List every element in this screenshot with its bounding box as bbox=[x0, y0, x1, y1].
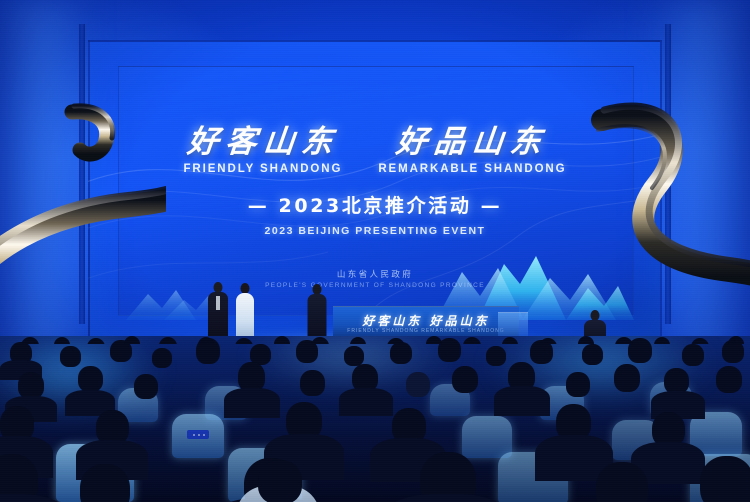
audience-head bbox=[614, 364, 640, 392]
audience-head bbox=[486, 346, 506, 366]
audience-head bbox=[700, 456, 750, 502]
audience-head bbox=[78, 366, 103, 392]
audience-head bbox=[300, 370, 325, 396]
audience-head bbox=[406, 372, 430, 397]
audience-area bbox=[0, 336, 750, 502]
audience-head bbox=[60, 346, 81, 367]
audience-head bbox=[258, 460, 302, 502]
audience-head bbox=[566, 372, 590, 397]
seat-placard bbox=[187, 430, 209, 439]
audience-head bbox=[152, 348, 172, 368]
audience-shoulders bbox=[494, 386, 550, 416]
audience-head bbox=[596, 462, 648, 502]
audience-head bbox=[716, 366, 742, 393]
stage-edge-silhouettes bbox=[0, 330, 750, 344]
seat-back bbox=[172, 414, 224, 458]
audience-shoulders bbox=[339, 388, 393, 416]
audience-shoulders bbox=[224, 388, 280, 418]
ribbon-sculpture-right bbox=[572, 74, 750, 320]
event-photo-scene: 好客山东 FRIENDLY SHANDONG 好品山东 REMARKABLE S… bbox=[0, 0, 750, 502]
audience-head bbox=[390, 342, 412, 364]
audience-head bbox=[682, 344, 704, 366]
audience-head bbox=[134, 374, 158, 399]
podium-banner-cn: 好客山东 好品山东 bbox=[333, 312, 519, 329]
audience-head bbox=[18, 372, 44, 399]
audience-head bbox=[452, 366, 478, 393]
seat-back bbox=[462, 416, 512, 458]
audience-head bbox=[582, 344, 603, 365]
audience-head bbox=[344, 346, 364, 366]
ribbon-sculpture-left bbox=[0, 96, 166, 324]
audience-head bbox=[80, 464, 130, 502]
